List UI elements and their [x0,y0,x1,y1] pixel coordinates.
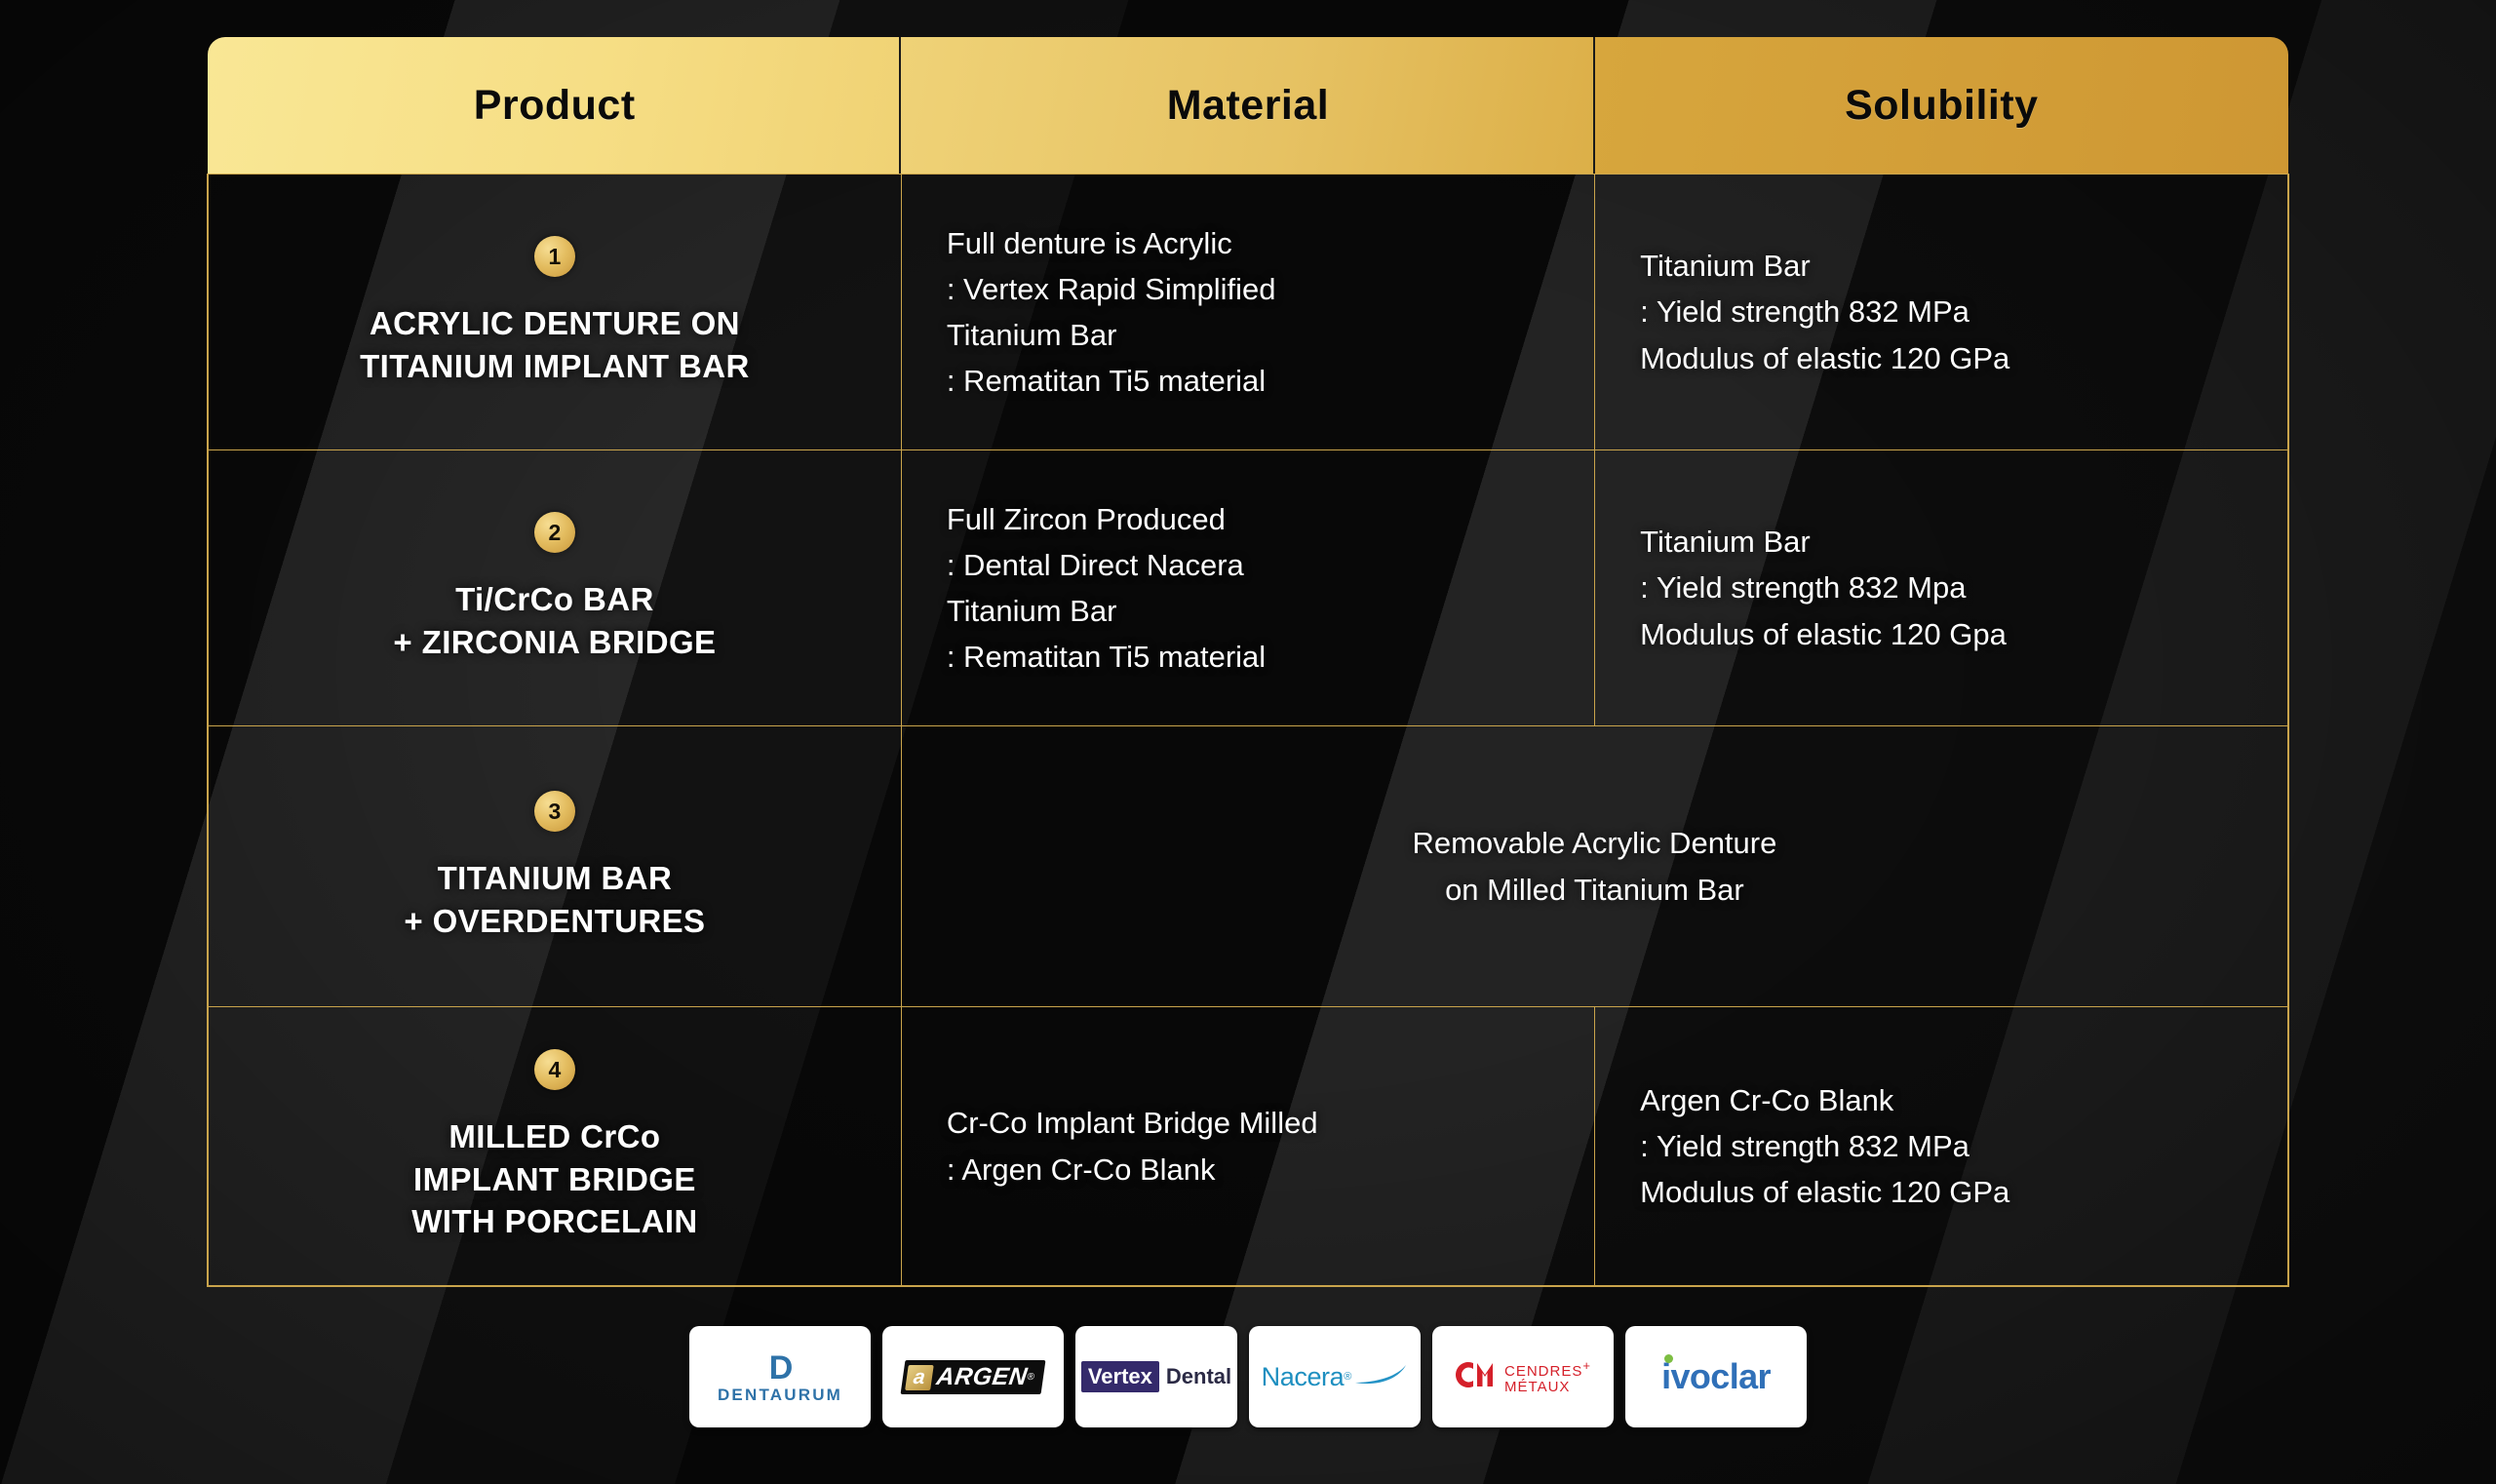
material-line: Titanium Bar [947,312,1561,358]
material-line: Full Zircon Produced [947,496,1561,542]
table-row: 4 MILLED CrCo IMPLANT BRIDGE WITH PORCEL… [208,1007,2288,1287]
solubility-line: : Yield strength 832 Mpa [1640,565,2254,610]
vertex-wordmark: Dental [1166,1364,1231,1389]
column-header-material: Material [901,37,1594,175]
material-text-2: Full Zircon Produced : Dental Direct Nac… [902,471,1594,705]
material-line: : Dental Direct Nacera [947,542,1561,588]
column-header-product: Product [208,37,901,175]
product-name-2: Ti/CrCo BAR + ZIRCONIA BRIDGE [242,578,868,664]
row-number-badge: 3 [534,791,575,832]
dentaurum-mark-icon: D [718,1351,842,1385]
product-name-line: WITH PORCELAIN [242,1200,868,1243]
product-name-line: TITANIUM BAR [242,857,868,900]
material-line: : Argen Cr-Co Blank [947,1147,1561,1192]
solubility-text-4: Argen Cr-Co Blank : Yield strength 832 M… [1595,1052,2287,1240]
product-name-1: ACRYLIC DENTURE ON TITANIUM IMPLANT BAR [242,302,868,388]
logo-cendres-metaux[interactable]: CENDRES+ MÉTAUX [1432,1326,1614,1427]
material-line: Full denture is Acrylic [947,220,1561,266]
cell-solubility-2: Titanium Bar : Yield strength 832 Mpa Mo… [1595,450,2288,726]
logo-dentaurum[interactable]: D DENTAURUM [689,1326,871,1427]
product-name-line: + OVERDENTURES [242,900,868,943]
row-number-badge: 2 [534,512,575,553]
cell-material-1: Full denture is Acrylic : Vertex Rapid S… [901,175,1594,450]
material-text-1: Full denture is Acrylic : Vertex Rapid S… [902,195,1594,429]
solubility-line: : Yield strength 832 MPa [1640,289,2254,334]
logo-ivoclar[interactable]: ivoclar [1625,1326,1807,1427]
solubility-text-1: Titanium Bar : Yield strength 832 MPa Mo… [1595,217,2287,406]
cell-merged-3: Removable Acrylic Denture on Milled Tita… [901,726,2288,1007]
table-body: 1 ACRYLIC DENTURE ON TITANIUM IMPLANT BA… [208,175,2288,1287]
argen-wordmark: ARGEN [935,1363,1030,1391]
solubility-line: Modulus of elastic 120 GPa [1640,335,2254,381]
nacera-wordmark: Nacera [1262,1362,1345,1392]
cell-material-4: Cr-Co Implant Bridge Milled : Argen Cr-C… [901,1007,1594,1287]
product-name-line: MILLED CrCo [242,1115,868,1158]
logo-nacera[interactable]: Nacera ® [1249,1326,1421,1427]
cell-product-1: 1 ACRYLIC DENTURE ON TITANIUM IMPLANT BA… [208,175,901,450]
solubility-line: Argen Cr-Co Blank [1640,1077,2254,1123]
table-header: Product Material Solubility [208,37,2288,175]
table-row: 1 ACRYLIC DENTURE ON TITANIUM IMPLANT BA… [208,175,2288,450]
cendres-line2: MÉTAUX [1504,1380,1591,1395]
product-name-line: + ZIRCONIA BRIDGE [242,621,868,664]
column-header-solubility: Solubility [1595,37,2288,175]
ivoclar-dot-icon [1664,1354,1673,1363]
material-text-4: Cr-Co Implant Bridge Milled : Argen Cr-C… [902,1074,1594,1217]
cell-product-2: 2 Ti/CrCo BAR + ZIRCONIA BRIDGE [208,450,901,726]
product-comparison-table: Product Material Solubility 1 ACRYLIC DE… [207,37,2289,1287]
product-name-4: MILLED CrCo IMPLANT BRIDGE WITH PORCELAI… [242,1115,868,1244]
argen-registered-icon: ® [1027,1372,1035,1383]
merged-line: Removable Acrylic Denture [935,820,2254,866]
table-header-row: Product Material Solubility [208,37,2288,175]
cell-solubility-1: Titanium Bar : Yield strength 832 MPa Mo… [1595,175,2288,450]
logo-vertex-dental[interactable]: Vertex Dental [1075,1326,1237,1427]
material-line: Titanium Bar [947,588,1561,634]
table-row: 3 TITANIUM BAR + OVERDENTURES Removable … [208,726,2288,1007]
merged-line: on Milled Titanium Bar [935,867,2254,913]
merged-text-3: Removable Acrylic Denture on Milled Tita… [902,795,2287,937]
row-number-badge: 1 [534,236,575,277]
material-line: : Vertex Rapid Simplified [947,266,1561,312]
material-line: : Rematitan Ti5 material [947,358,1561,404]
cendres-line1: CENDRES+ [1504,1359,1591,1380]
cell-material-2: Full Zircon Produced : Dental Direct Nac… [901,450,1594,726]
solubility-line: Titanium Bar [1640,243,2254,289]
solubility-line: Titanium Bar [1640,519,2254,565]
nacera-registered-icon: ® [1344,1371,1351,1383]
solubility-line: Modulus of elastic 120 GPa [1640,1169,2254,1215]
table-row: 2 Ti/CrCo BAR + ZIRCONIA BRIDGE Full Zir… [208,450,2288,726]
dentaurum-wordmark: DENTAURUM [718,1386,842,1403]
material-line: Cr-Co Implant Bridge Milled [947,1100,1561,1146]
partner-logo-strip: D DENTAURUM a ARGEN ® Vertex Dental Nace… [0,1326,2496,1427]
cendres-metaux-mark-icon [1455,1359,1498,1395]
argen-mark-icon: a [905,1364,933,1389]
solubility-line: : Yield strength 832 MPa [1640,1123,2254,1169]
product-name-line: ACRYLIC DENTURE ON [242,302,868,345]
cendres-plus-icon: + [1582,1358,1591,1373]
ivoclar-wordmark: ivoclar [1661,1356,1771,1396]
solubility-line: Modulus of elastic 120 Gpa [1640,611,2254,657]
cell-solubility-4: Argen Cr-Co Blank : Yield strength 832 M… [1595,1007,2288,1287]
material-line: : Rematitan Ti5 material [947,634,1561,680]
cell-product-3: 3 TITANIUM BAR + OVERDENTURES [208,726,901,1007]
cell-product-4: 4 MILLED CrCo IMPLANT BRIDGE WITH PORCEL… [208,1007,901,1287]
vertex-boxed-word: Vertex [1081,1361,1159,1392]
product-name-line: TITANIUM IMPLANT BAR [242,345,868,388]
logo-argen[interactable]: a ARGEN ® [882,1326,1064,1427]
product-name-line: Ti/CrCo BAR [242,578,868,621]
slide-canvas: Product Material Solubility 1 ACRYLIC DE… [0,0,2496,1484]
product-name-3: TITANIUM BAR + OVERDENTURES [242,857,868,943]
row-number-badge: 4 [534,1049,575,1090]
nacera-swoosh-icon [1353,1362,1408,1392]
solubility-text-2: Titanium Bar : Yield strength 832 Mpa Mo… [1595,493,2287,682]
product-name-line: IMPLANT BRIDGE [242,1158,868,1201]
comparison-table-wrapper: Product Material Solubility 1 ACRYLIC DE… [207,37,2289,1287]
